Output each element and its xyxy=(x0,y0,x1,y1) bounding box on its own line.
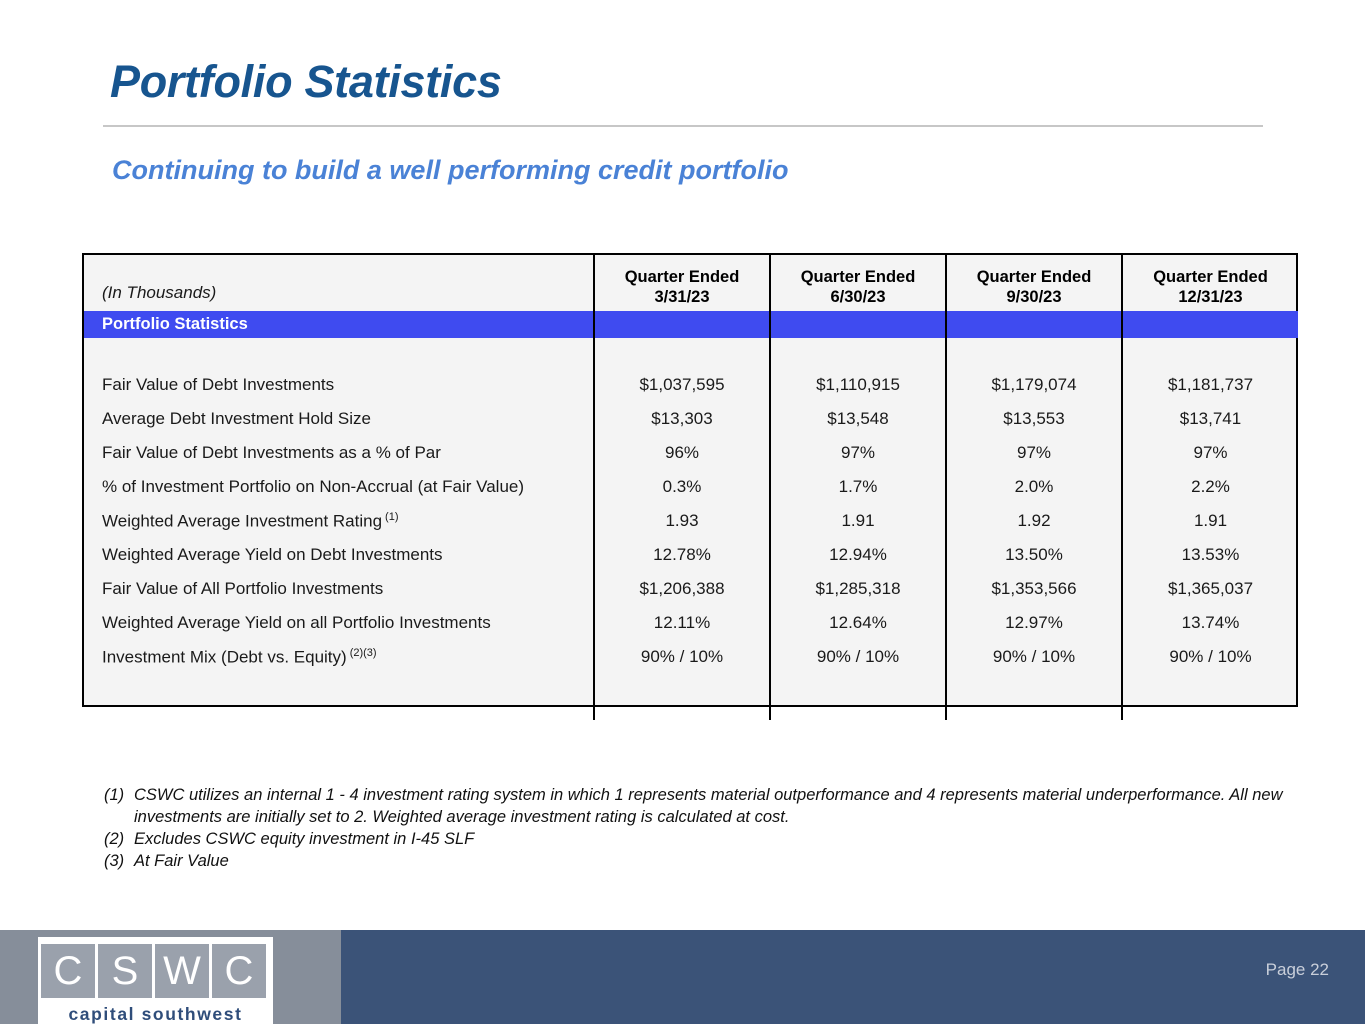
page-subtitle: Continuing to build a well performing cr… xyxy=(112,155,788,186)
spacer-cell-q3 xyxy=(946,338,1122,368)
page-title: Portfolio Statistics xyxy=(110,56,502,108)
spacer-cell-label xyxy=(84,338,594,368)
row-label-text: Fair Value of Debt Investments as a % of… xyxy=(102,443,441,462)
row-label: Fair Value of Debt Investments as a % of… xyxy=(84,436,594,470)
table-row: % of Investment Portfolio on Non-Accrual… xyxy=(84,470,1298,504)
row-value-q3: 13.50% xyxy=(946,538,1122,572)
column-header-q2: Quarter Ended 6/30/23 xyxy=(770,255,946,311)
spacer-bottom-cell-q1 xyxy=(594,674,770,720)
row-value-q2: $1,285,318 xyxy=(770,572,946,606)
logo-letter-w: W xyxy=(155,944,209,998)
table-spacer-row-bottom xyxy=(84,674,1298,720)
column-header-q3-line2: 9/30/23 xyxy=(947,288,1121,307)
row-label-text: Weighted Average Yield on all Portfolio … xyxy=(102,613,491,632)
section-band-cell-q1 xyxy=(594,311,770,338)
table-spacer-row-top xyxy=(84,338,1298,368)
row-value-q1: $1,037,595 xyxy=(594,368,770,402)
footnote-item: (1) CSWC utilizes an internal 1 - 4 inve… xyxy=(104,785,1284,829)
page-number: Page 22 xyxy=(1266,960,1329,980)
logo-wordmark: capital southwest xyxy=(38,998,273,1024)
row-value-q1: $13,303 xyxy=(594,402,770,436)
column-header-q2-line2: 6/30/23 xyxy=(771,288,945,307)
logo-letter-c1: C xyxy=(41,944,95,998)
row-value-q1: 12.11% xyxy=(594,606,770,640)
row-label-text: Investment Mix (Debt vs. Equity) xyxy=(102,647,347,666)
table-row: Average Debt Investment Hold Size $13,30… xyxy=(84,402,1298,436)
footer-navy-band xyxy=(341,930,1365,1024)
spacer-bottom-cell-label xyxy=(84,674,594,720)
footnote-marker: (2)(3) xyxy=(350,647,377,659)
row-label-text: Weighted Average Yield on Debt Investmen… xyxy=(102,545,443,564)
row-value-q4: $13,741 xyxy=(1122,402,1298,436)
footnote-text: At Fair Value xyxy=(134,851,1284,873)
column-header-q1-line2: 3/31/23 xyxy=(595,288,769,307)
row-value-q2: 1.91 xyxy=(770,504,946,538)
footnote-item: (2) Excludes CSWC equity investment in I… xyxy=(104,829,1284,851)
row-label: Weighted Average Yield on Debt Investmen… xyxy=(84,538,594,572)
row-value-q2: 97% xyxy=(770,436,946,470)
row-value-q3: $13,553 xyxy=(946,402,1122,436)
row-value-q3: $1,179,074 xyxy=(946,368,1122,402)
row-label-text: Fair Value of All Portfolio Investments xyxy=(102,579,383,598)
section-band-label: Portfolio Statistics xyxy=(84,311,594,338)
table-row: Investment Mix (Debt vs. Equity)(2)(3) 9… xyxy=(84,640,1298,674)
row-value-q3: 97% xyxy=(946,436,1122,470)
row-label-text: Average Debt Investment Hold Size xyxy=(102,409,371,428)
column-header-q1: Quarter Ended 3/31/23 xyxy=(594,255,770,311)
column-header-q3: Quarter Ended 9/30/23 xyxy=(946,255,1122,311)
row-label: Fair Value of All Portfolio Investments xyxy=(84,572,594,606)
unit-label: (In Thousands) xyxy=(84,255,594,311)
table-row: Fair Value of Debt Investments as a % of… xyxy=(84,436,1298,470)
footnote-text: Excludes CSWC equity investment in I-45 … xyxy=(134,829,1284,851)
spacer-cell-q2 xyxy=(770,338,946,368)
row-value-q2: $1,110,915 xyxy=(770,368,946,402)
logo-letter-boxes: C S W C xyxy=(38,937,273,998)
column-header-q1-line1: Quarter Ended xyxy=(595,268,769,287)
row-value-q4: 90% / 10% xyxy=(1122,640,1298,674)
logo-letter-c2: C xyxy=(212,944,266,998)
row-value-q2: $13,548 xyxy=(770,402,946,436)
row-label-text: Weighted Average Investment Rating xyxy=(102,511,382,530)
row-value-q2: 90% / 10% xyxy=(770,640,946,674)
row-value-q2: 12.94% xyxy=(770,538,946,572)
title-divider xyxy=(103,125,1263,127)
row-value-q4: 13.74% xyxy=(1122,606,1298,640)
spacer-cell-q1 xyxy=(594,338,770,368)
column-header-q4-line1: Quarter Ended xyxy=(1123,268,1298,287)
row-value-q3: 1.92 xyxy=(946,504,1122,538)
section-band-cell-q2 xyxy=(770,311,946,338)
footnote-number: (3) xyxy=(104,851,134,873)
table-row: Weighted Average Investment Rating(1) 1.… xyxy=(84,504,1298,538)
row-value-q4: 97% xyxy=(1122,436,1298,470)
column-header-q3-line1: Quarter Ended xyxy=(947,268,1121,287)
section-band-cell-q4 xyxy=(1122,311,1298,338)
section-band-cell-q3 xyxy=(946,311,1122,338)
footnote-marker: (1) xyxy=(385,511,398,523)
row-value-q1: 0.3% xyxy=(594,470,770,504)
spacer-cell-q4 xyxy=(1122,338,1298,368)
row-label-text: Fair Value of Debt Investments xyxy=(102,375,334,394)
row-value-q1: 96% xyxy=(594,436,770,470)
row-value-q1: $1,206,388 xyxy=(594,572,770,606)
row-label: Weighted Average Yield on all Portfolio … xyxy=(84,606,594,640)
row-value-q3: 2.0% xyxy=(946,470,1122,504)
row-value-q4: $1,181,737 xyxy=(1122,368,1298,402)
row-value-q4: 1.91 xyxy=(1122,504,1298,538)
row-value-q1: 90% / 10% xyxy=(594,640,770,674)
row-label: Investment Mix (Debt vs. Equity)(2)(3) xyxy=(84,640,594,674)
row-value-q3: 12.97% xyxy=(946,606,1122,640)
row-value-q3: $1,353,566 xyxy=(946,572,1122,606)
spacer-bottom-cell-q2 xyxy=(770,674,946,720)
footnotes: (1) CSWC utilizes an internal 1 - 4 inve… xyxy=(104,785,1284,873)
row-label: Weighted Average Investment Rating(1) xyxy=(84,504,594,538)
table-header-row: (In Thousands) Quarter Ended 3/31/23 Qua… xyxy=(84,255,1298,311)
row-value-q4: 13.53% xyxy=(1122,538,1298,572)
row-label: % of Investment Portfolio on Non-Accrual… xyxy=(84,470,594,504)
row-value-q1: 12.78% xyxy=(594,538,770,572)
table-row: Weighted Average Yield on Debt Investmen… xyxy=(84,538,1298,572)
cswc-logo: C S W C capital southwest xyxy=(38,937,273,1024)
row-label: Average Debt Investment Hold Size xyxy=(84,402,594,436)
footnote-text: CSWC utilizes an internal 1 - 4 investme… xyxy=(134,785,1284,829)
table-row: Fair Value of All Portfolio Investments … xyxy=(84,572,1298,606)
footnote-number: (1) xyxy=(104,785,134,807)
table-row: Fair Value of Debt Investments $1,037,59… xyxy=(84,368,1298,402)
footnote-number: (2) xyxy=(104,829,134,851)
row-value-q2: 1.7% xyxy=(770,470,946,504)
column-header-q4: Quarter Ended 12/31/23 xyxy=(1122,255,1298,311)
row-label-text: % of Investment Portfolio on Non-Accrual… xyxy=(102,477,524,496)
row-value-q3: 90% / 10% xyxy=(946,640,1122,674)
section-band-row: Portfolio Statistics xyxy=(84,311,1298,338)
column-header-q4-line2: 12/31/23 xyxy=(1123,288,1298,307)
slide: Portfolio Statistics Continuing to build… xyxy=(0,0,1365,1024)
spacer-bottom-cell-q4 xyxy=(1122,674,1298,720)
footnote-item: (3) At Fair Value xyxy=(104,851,1284,873)
row-value-q1: 1.93 xyxy=(594,504,770,538)
portfolio-statistics-table: (In Thousands) Quarter Ended 3/31/23 Qua… xyxy=(82,253,1298,707)
row-value-q2: 12.64% xyxy=(770,606,946,640)
logo-letter-s: S xyxy=(98,944,152,998)
row-value-q4: $1,365,037 xyxy=(1122,572,1298,606)
column-header-q2-line1: Quarter Ended xyxy=(771,268,945,287)
spacer-bottom-cell-q3 xyxy=(946,674,1122,720)
row-label: Fair Value of Debt Investments xyxy=(84,368,594,402)
row-value-q4: 2.2% xyxy=(1122,470,1298,504)
table-row: Weighted Average Yield on all Portfolio … xyxy=(84,606,1298,640)
